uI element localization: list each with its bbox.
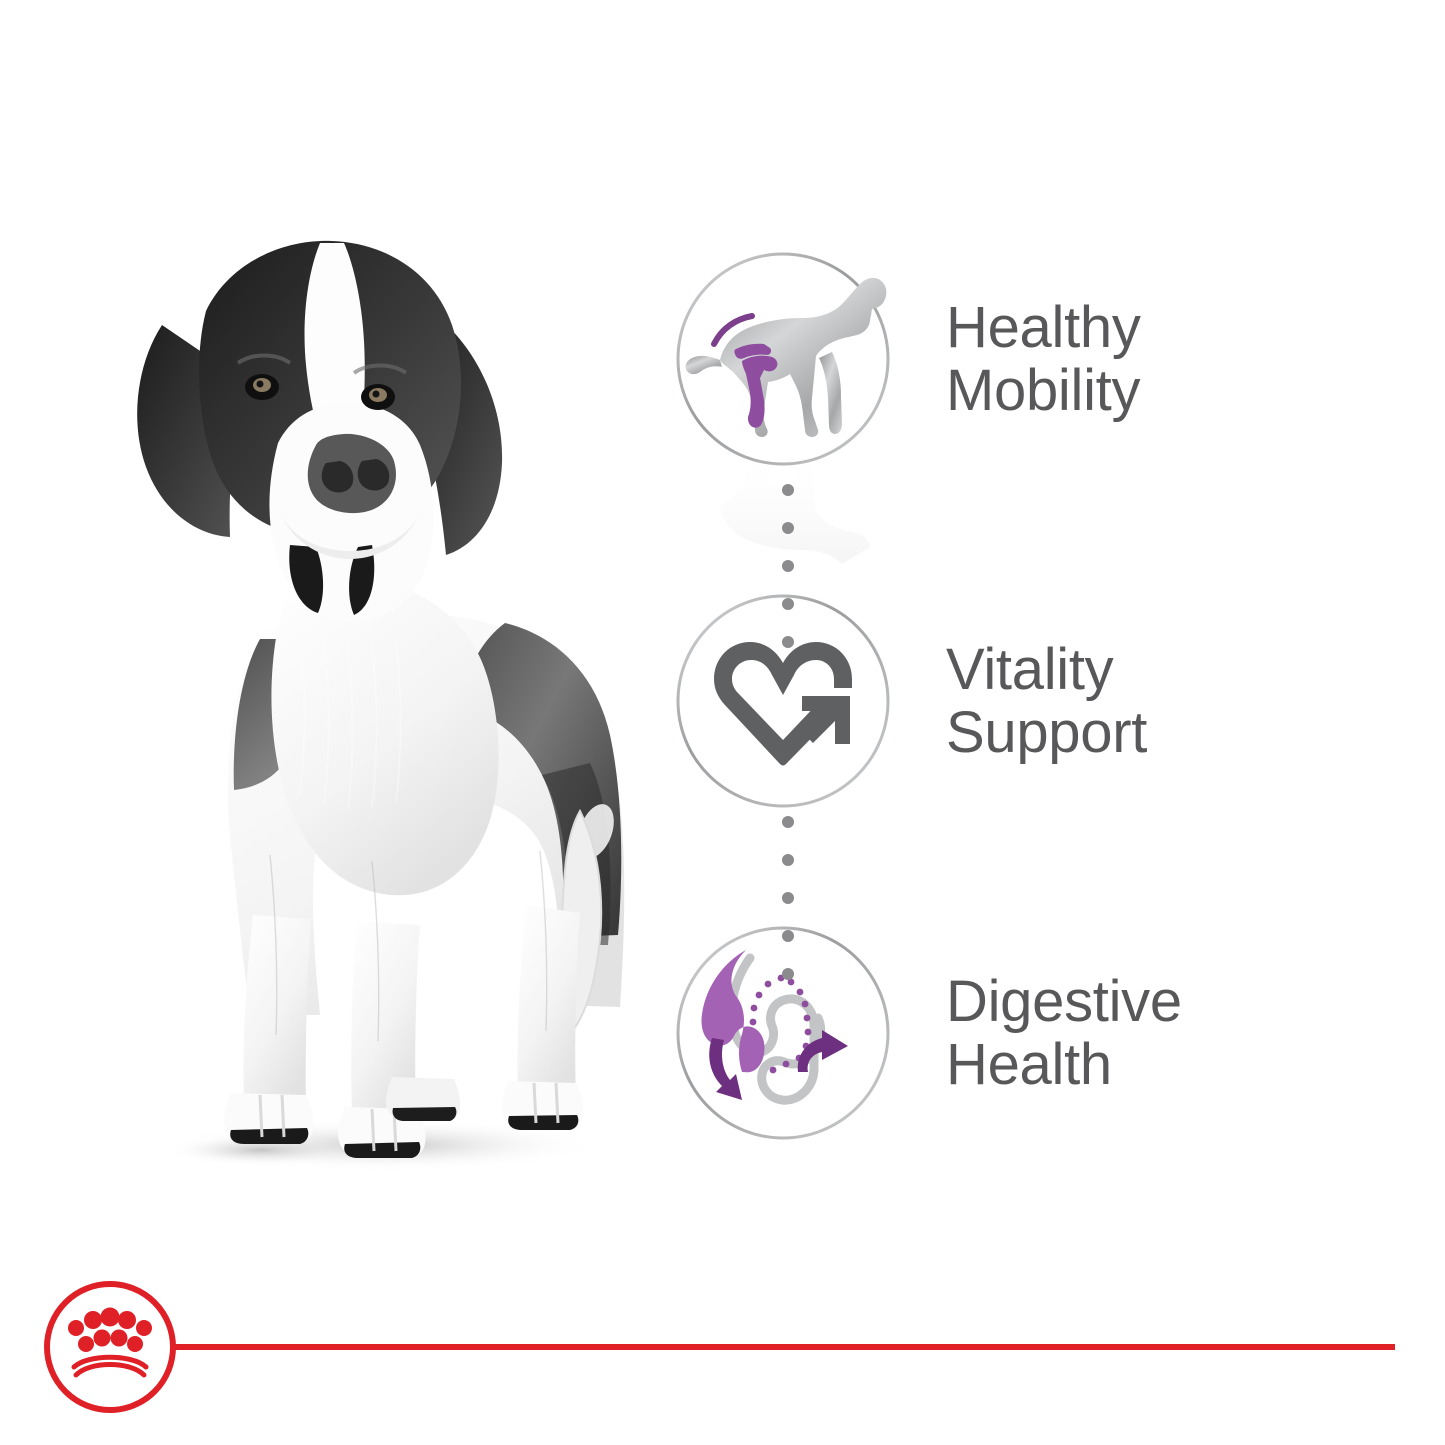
benefit-item-vitality-support[interactable]: Vitality Support	[672, 590, 1372, 812]
connector-dot	[782, 930, 794, 942]
connector-vitality-to-digestive	[780, 816, 796, 1006]
footer-brand-bar	[0, 1272, 1445, 1445]
dog-joint-mobility-icon	[672, 248, 894, 470]
connector-dot	[782, 816, 794, 828]
benefits-list: Healthy Mobility	[672, 240, 1372, 1170]
connector-dot	[782, 522, 794, 534]
connector-dot	[782, 854, 794, 866]
connector-mobility-to-vitality	[780, 484, 796, 674]
connector-dot	[782, 968, 794, 980]
product-feature-panel: Healthy Mobility	[0, 0, 1445, 1445]
connector-dot	[782, 636, 794, 648]
connector-dot	[782, 598, 794, 610]
benefit-item-digestive-health[interactable]: Digestive Health	[672, 922, 1372, 1144]
benefit-label-healthy-mobility: Healthy Mobility	[946, 296, 1141, 422]
benefit-item-healthy-mobility[interactable]: Healthy Mobility	[672, 248, 1372, 470]
benefit-label-vitality-support: Vitality Support	[946, 638, 1147, 764]
connector-dot	[782, 560, 794, 572]
hero-dog-image	[110, 215, 630, 1175]
benefit-label-digestive-health: Digestive Health	[946, 970, 1182, 1096]
connector-dot	[782, 892, 794, 904]
connector-dot	[782, 484, 794, 496]
